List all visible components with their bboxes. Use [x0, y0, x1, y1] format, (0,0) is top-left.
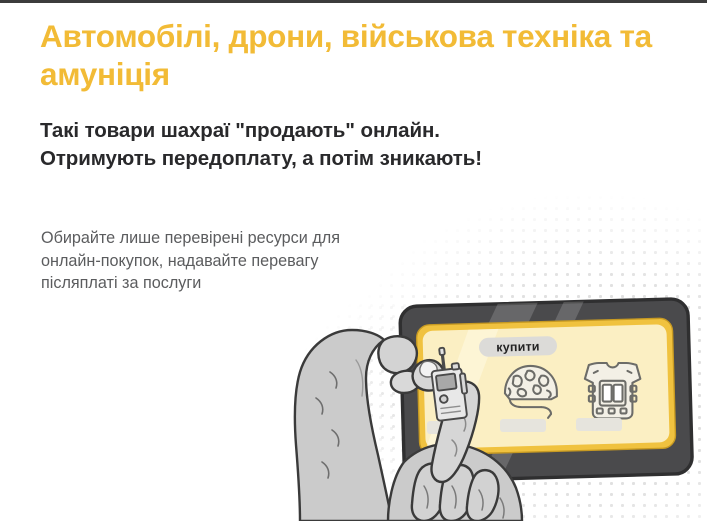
right-hand: [388, 444, 522, 521]
pinching-fingers: [413, 360, 480, 482]
buy-button[interactable]: купити: [479, 336, 557, 357]
price-placeholder-1: [427, 421, 469, 434]
tablet-frame: [400, 299, 693, 482]
top-edge-strip: [0, 0, 707, 3]
left-hand: [295, 330, 421, 521]
buy-button-label: купити: [496, 339, 540, 354]
page-title: Автомобілі, дрони, військова техніка та …: [40, 17, 660, 93]
helmet-icon: [505, 366, 557, 418]
poster-canvas: Автомобілі, дрони, військова техніка та …: [0, 0, 707, 521]
body-paragraph: Обирайте лише перевірені ресурси для онл…: [41, 227, 341, 295]
vest-icon: [585, 363, 640, 418]
price-placeholders: [427, 418, 622, 434]
price-placeholder-2: [500, 419, 546, 432]
price-placeholder-3: [576, 418, 622, 431]
halftone-pattern-left: [300, 300, 530, 521]
subheading: Такі товари шахраї "продають" онлайн. От…: [40, 117, 510, 173]
radio-icon: [429, 346, 471, 421]
